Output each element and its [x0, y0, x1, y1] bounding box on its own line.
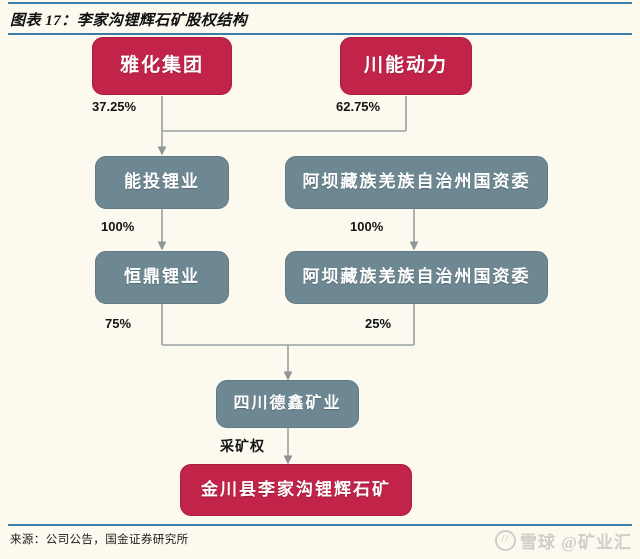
- watermark: // 雪球 @矿业汇: [495, 528, 632, 553]
- node-label: 四川德鑫矿业: [233, 395, 341, 413]
- edge-label-abazhou2-stake: 25%: [365, 316, 391, 331]
- node-chuanneng-power[interactable]: 川能动力: [340, 37, 472, 95]
- node-jinchuan-lijiagou-mine[interactable]: 金川县李家沟锂辉石矿: [180, 464, 412, 516]
- watermark-badge-icon: //: [495, 530, 516, 551]
- source-note: 来源：公司公告，国金证券研究所: [10, 531, 189, 547]
- node-label: 阿坝藏族羌族自治州国资委: [303, 173, 531, 192]
- node-label: 能投锂业: [124, 173, 200, 192]
- node-abazhou-sasac-lower[interactable]: 阿坝藏族羌族自治州国资委: [285, 251, 548, 304]
- node-label: 恒鼎锂业: [124, 268, 200, 287]
- chart-figure: 图表 17：李家沟锂辉石矿股权结构: [0, 0, 640, 559]
- node-sichuan-dexin-mining[interactable]: 四川德鑫矿业: [216, 380, 359, 428]
- node-label: 阿坝藏族羌族自治州国资委: [303, 268, 531, 287]
- node-abazhou-sasac-upper[interactable]: 阿坝藏族羌族自治州国资委: [285, 156, 548, 209]
- divider-under-title: [8, 33, 632, 35]
- node-label: 川能动力: [364, 56, 448, 77]
- edge-label-mining-right: 采矿权: [220, 436, 265, 456]
- edge-label-hengding-stake: 75%: [105, 316, 131, 331]
- node-yahua-group[interactable]: 雅化集团: [92, 37, 232, 95]
- watermark-label: 雪球 @矿业汇: [520, 528, 632, 553]
- edge-label-nengtou-stake: 100%: [101, 219, 134, 234]
- edge-label-abazhou1-stake: 100%: [350, 219, 383, 234]
- edge-label-chuanneng-stake: 62.75%: [336, 99, 380, 114]
- node-label: 金川县李家沟锂辉石矿: [201, 481, 391, 500]
- edge-label-yahua-stake: 37.25%: [92, 99, 136, 114]
- node-label: 雅化集团: [120, 56, 204, 77]
- divider-bottom: [8, 524, 632, 526]
- node-nengtou-lithium[interactable]: 能投锂业: [95, 156, 229, 209]
- page-title: 图表 17：李家沟锂辉石矿股权结构: [10, 9, 247, 30]
- node-hengding-lithium[interactable]: 恒鼎锂业: [95, 251, 229, 304]
- divider-top: [8, 2, 632, 4]
